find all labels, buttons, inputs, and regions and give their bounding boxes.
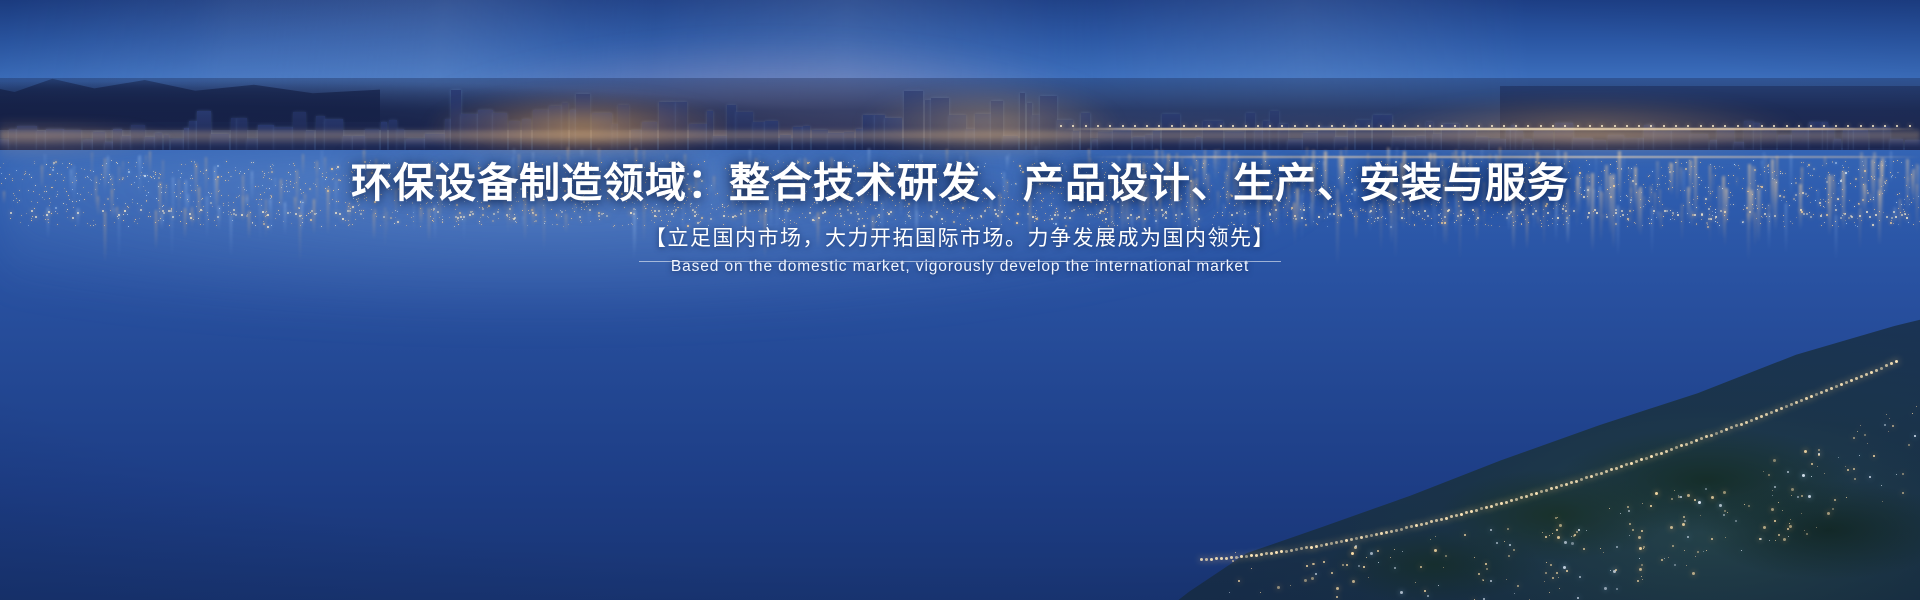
banner-subtitle-wrap: 【立足国内市场，大力开拓国际市场。力争发展成为国内领先】 xyxy=(0,222,1920,262)
banner-text-overlay: 环保设备制造领域：整合技术研发、产品设计、生产、安装与服务 【立足国内市场，大力… xyxy=(0,0,1920,600)
hero-banner: 环保设备制造领域：整合技术研发、产品设计、生产、安装与服务 【立足国内市场，大力… xyxy=(0,0,1920,600)
banner-subtitle: 【立足国内市场，大力开拓国际市场。力争发展成为国内领先】 xyxy=(639,222,1281,262)
banner-title: 环保设备制造领域：整合技术研发、产品设计、生产、安装与服务 xyxy=(0,160,1920,207)
banner-english-tagline: Based on the domestic market, vigorously… xyxy=(0,258,1920,276)
